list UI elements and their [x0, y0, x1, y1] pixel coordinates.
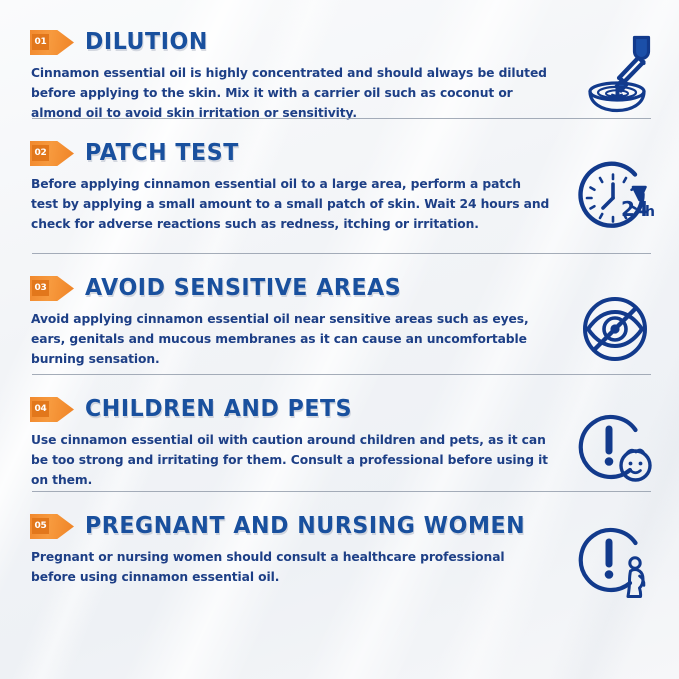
step-number: 02 — [32, 145, 49, 161]
section-dilution: 01 DILUTION Cinnamon essential oil is hi… — [0, 0, 679, 118]
section-title: CHILDREN AND PETS — [85, 397, 352, 421]
step-badge-04: 04 — [30, 397, 74, 422]
section-header: 05 PREGNANT AND NURSING WOMEN — [30, 514, 651, 539]
step-badge-05: 05 — [30, 514, 74, 539]
section-children-and-pets: 04 CHILDREN AND PETS Use cinnamon essent… — [0, 375, 679, 491]
section-body: Avoid applying cinnamon essential oil ne… — [31, 310, 551, 370]
section-title: AVOID SENSITIVE AREAS — [85, 276, 401, 300]
section-body: Pregnant or nursing women should consult… — [31, 548, 551, 588]
step-badge-01: 01 — [30, 30, 74, 55]
step-badge-03: 03 — [30, 276, 74, 301]
step-badge-02: 02 — [30, 141, 74, 166]
clock-24h-icon: 24 h — [569, 157, 665, 243]
section-patch-test: 02 PATCH TEST Before applying cinnamon e… — [0, 119, 679, 253]
step-number: 01 — [32, 34, 49, 50]
section-avoid-sensitive-areas: 03 AVOID SENSITIVE AREAS Avoid applying … — [0, 254, 679, 374]
section-body: Use cinnamon essential oil with caution … — [31, 431, 551, 491]
sections-list: 01 DILUTION Cinnamon essential oil is hi… — [0, 0, 679, 602]
section-body: Before applying cinnamon essential oil t… — [31, 175, 551, 235]
section-pregnant-and-nursing-women: 05 PREGNANT AND NURSING WOMEN Pregnant o… — [0, 492, 679, 602]
section-header: 01 DILUTION — [30, 30, 651, 55]
step-number: 04 — [32, 401, 49, 417]
step-number: 03 — [32, 280, 49, 296]
section-header: 04 CHILDREN AND PETS — [30, 397, 651, 422]
section-title: PREGNANT AND NURSING WOMEN — [85, 514, 525, 538]
section-header: 03 AVOID SENSITIVE AREAS — [30, 276, 651, 301]
svg-text:24: 24 — [621, 197, 649, 221]
section-title: DILUTION — [85, 30, 208, 54]
section-body: Cinnamon essential oil is highly concent… — [31, 64, 551, 124]
step-number: 05 — [32, 518, 49, 534]
safety-tips-infographic: 01 DILUTION Cinnamon essential oil is hi… — [0, 0, 679, 679]
svg-text:h: h — [645, 204, 655, 220]
section-title: PATCH TEST — [85, 141, 239, 165]
section-header: 02 PATCH TEST — [30, 141, 651, 166]
